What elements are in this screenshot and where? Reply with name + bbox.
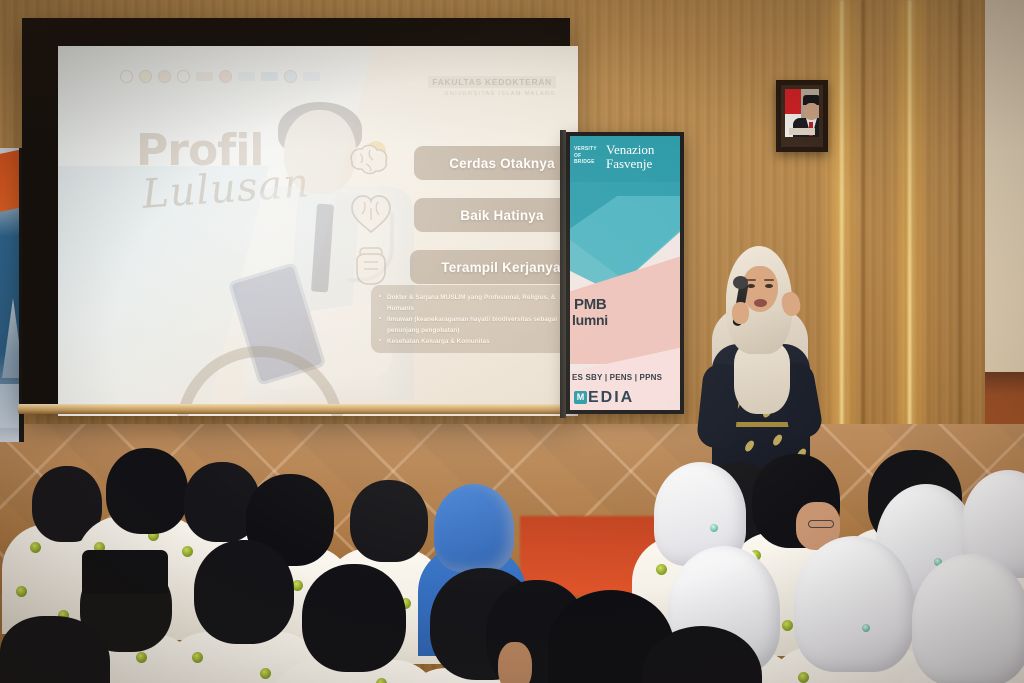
- glasses-icon: [808, 520, 834, 528]
- partner-logo-icon-8: [261, 72, 278, 81]
- left-poster: [0, 148, 24, 442]
- partner-logo-icon-4: [177, 70, 190, 83]
- banner-logo-line2: BRIDGE: [574, 159, 602, 166]
- faculty-name-line1: FAKULTAS KEDOKTERAN: [428, 76, 556, 88]
- bullet-item: Kesehatan Keluarga & Komunitas: [379, 337, 568, 348]
- banner-university-logo: VERSITY OF BRIDGE: [574, 146, 602, 164]
- portrait-face: [804, 103, 819, 120]
- faculty-logo: FAKULTAS KEDOKTERAN UNIVERSITAS ISLAM MA…: [428, 72, 556, 97]
- banner-brand-line2: Fasvenje: [606, 157, 654, 171]
- face-profile: [498, 642, 532, 683]
- portrait-caption-strip: [789, 128, 815, 135]
- partner-logo-strip: [120, 70, 320, 83]
- bullet-item: Ilmuwan (keanekaragaman hayati/ biodiver…: [379, 315, 568, 336]
- banner-header-band: VERSITY OF BRIDGE Venazion Fasvenje: [570, 136, 684, 182]
- right-cream-wall: [985, 0, 1024, 380]
- partner-logo-icon-2: [139, 70, 152, 83]
- panel-seam-1: [862, 0, 865, 470]
- bullet-item: Dokter & Sarjana MUSLIM yang Profesional…: [379, 293, 568, 314]
- brain-icon: [346, 140, 392, 184]
- head: [106, 448, 188, 534]
- banner-brand: Venazion Fasvenje: [606, 143, 654, 170]
- hijab: [794, 536, 914, 672]
- led-strip-1: [838, 0, 845, 470]
- head: [302, 564, 406, 672]
- heart-icon: [348, 192, 394, 236]
- fist-icon: [348, 244, 394, 288]
- banner-text-partners: ES SBY | PENS | PPNS: [572, 373, 662, 382]
- audience: [0, 440, 1024, 683]
- presenter-eye-right: [765, 284, 773, 288]
- poster-letter-a: [2, 298, 24, 378]
- partner-logo-icon-3: [158, 70, 171, 83]
- rollup-banner: VERSITY OF BRIDGE Venazion Fasvenje PMB …: [566, 132, 684, 414]
- partner-logo-icon-9: [284, 70, 297, 83]
- microphone-head-icon: [733, 276, 748, 289]
- pill-baik-hatinya: Baik Hatinya: [414, 198, 578, 232]
- banner-media-word: EDIA: [588, 389, 634, 406]
- projection-screen-frame: FAKULTAS KEDOKTERAN UNIVERSITAS ISLAM MA…: [22, 18, 570, 414]
- screen-bottom-rail: [18, 404, 574, 414]
- partner-logo-icon-1: [120, 70, 133, 83]
- presenter-mouth: [754, 299, 767, 307]
- poster-orange-shape: [0, 149, 22, 213]
- banner-text-pmb: PMB: [574, 296, 606, 313]
- led-strip-2: [906, 0, 913, 470]
- faculty-name-line2: UNIVERSITAS ISLAM MALANG: [428, 91, 556, 97]
- banner-brand-line1: Venazion: [606, 143, 654, 157]
- framed-portrait: [776, 80, 828, 152]
- hijab: [434, 484, 514, 572]
- partner-logo-icon-5: [196, 72, 213, 81]
- presentation-slide: FAKULTAS KEDOKTERAN UNIVERSITAS ISLAM MA…: [58, 46, 578, 416]
- portrait-image: [785, 89, 819, 137]
- presenter-eyebrow-right: [764, 279, 774, 281]
- banner-text-alumni: lumni: [572, 312, 608, 328]
- peci-icon: [82, 550, 168, 594]
- partner-logo-icon-6: [219, 70, 232, 83]
- auditorium-photo: FAKULTAS KEDOKTERAN UNIVERSITAS ISLAM MA…: [0, 0, 1024, 683]
- panel-seam-2: [958, 0, 961, 470]
- hijab: [912, 554, 1024, 683]
- banner-text-media: MEDIA: [574, 389, 634, 407]
- pill-terampil-kerjanya: Terampil Kerjanya: [410, 250, 578, 284]
- head: [350, 480, 428, 562]
- projection-screen-surface: FAKULTAS KEDOKTERAN UNIVERSITAS ISLAM MA…: [58, 46, 578, 416]
- partner-logo-icon-10: [303, 72, 320, 81]
- banner-media-mark: M: [574, 391, 587, 404]
- slide-bullet-box: Dokter & Sarjana MUSLIM yang Profesional…: [371, 285, 578, 353]
- presenter-hand-left: [732, 302, 749, 324]
- pill-cerdas-otaknya: Cerdas Otaknya: [414, 146, 578, 180]
- banner-logo-line1: VERSITY OF: [574, 146, 602, 159]
- partner-logo-icon-7: [238, 72, 255, 81]
- head: [194, 540, 294, 644]
